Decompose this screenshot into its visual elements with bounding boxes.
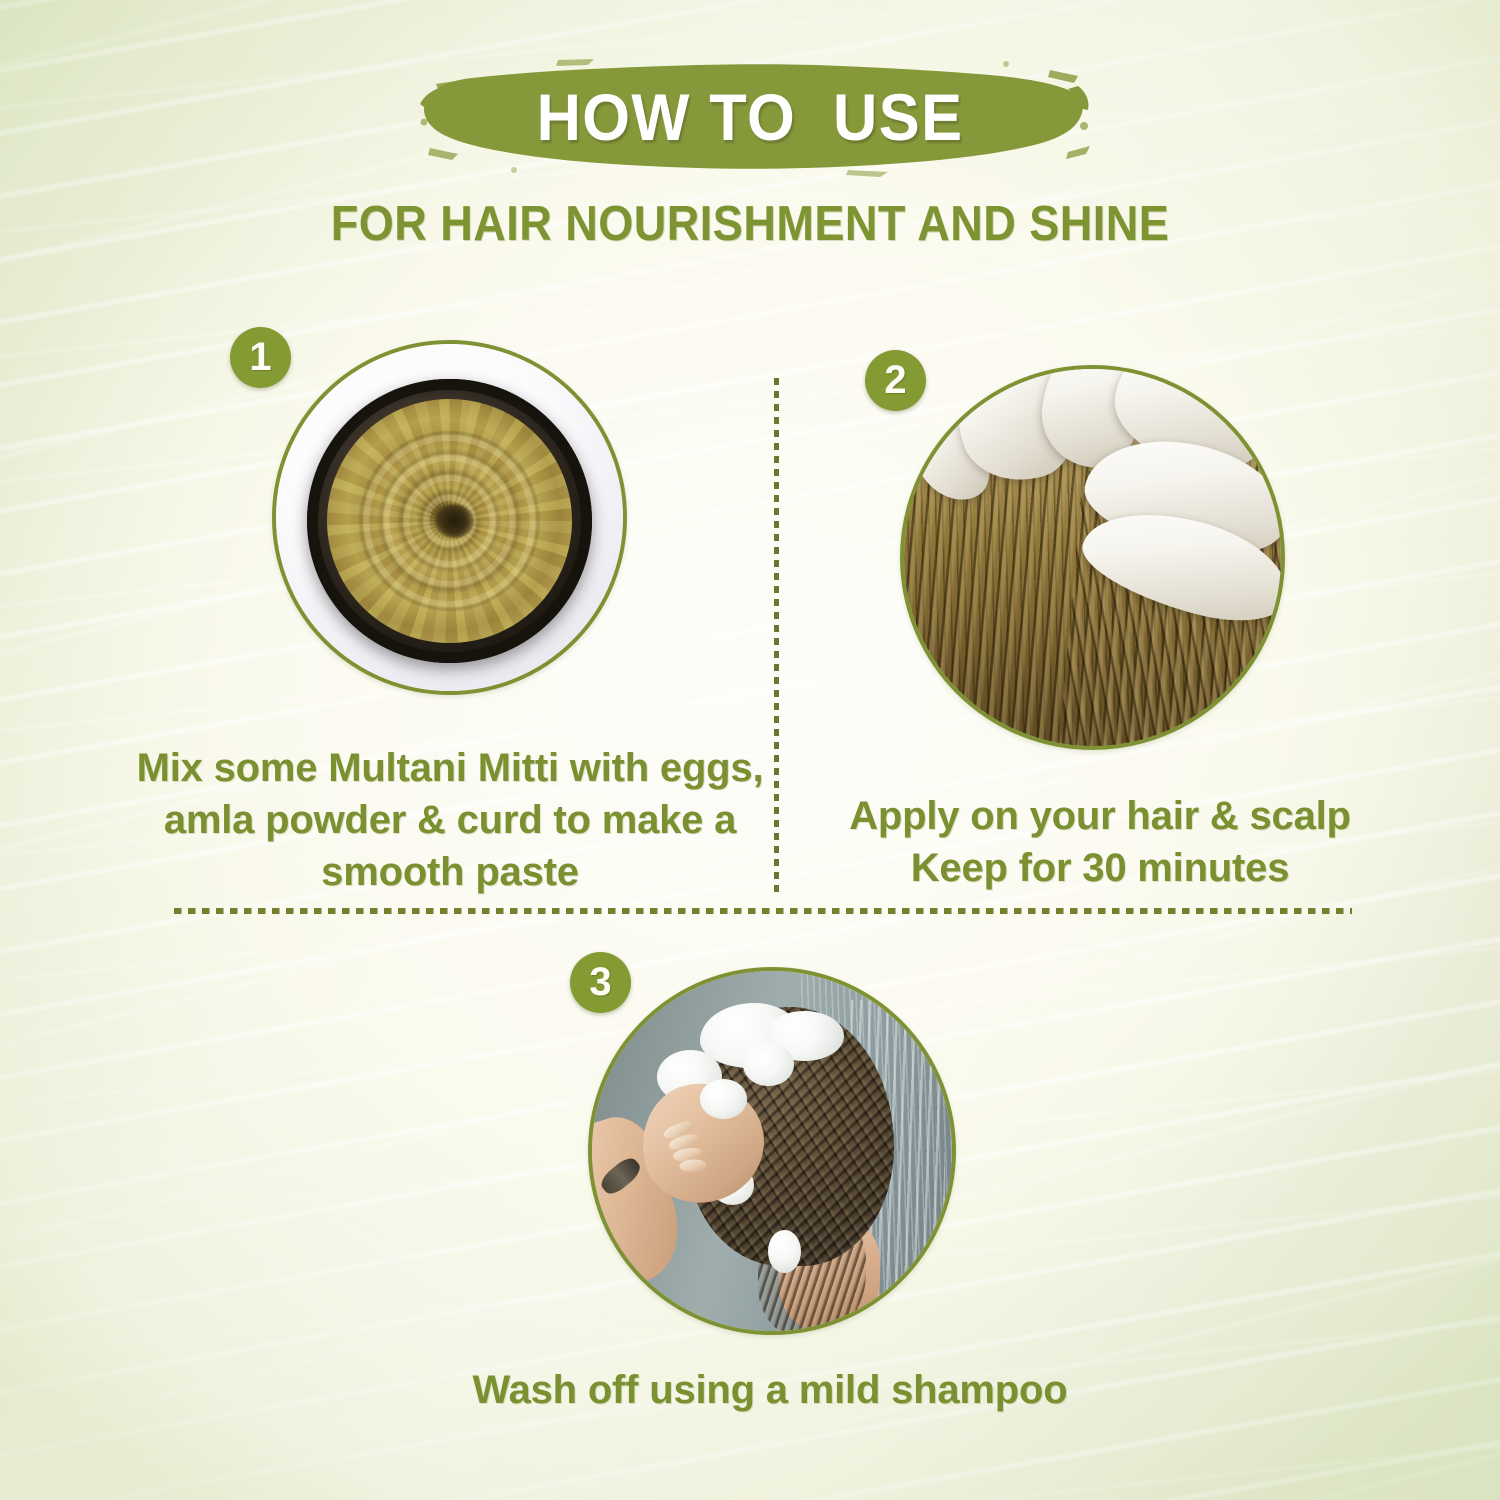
foam-blob-4 — [743, 1043, 793, 1086]
gloved-hands-applying-paste-to-hair-image — [904, 369, 1281, 746]
step-1-number-badge: 1 — [230, 327, 291, 388]
step-1-photo — [272, 340, 627, 695]
step-1-caption: Mix some Multani Mitti with eggs, amla p… — [120, 742, 780, 898]
finger-4 — [680, 1158, 708, 1171]
step-3-photo — [588, 967, 956, 1335]
foam-blob-6 — [768, 1230, 800, 1273]
step-2-number-badge: 2 — [865, 350, 926, 411]
foam-blob-on-hand — [700, 1079, 747, 1119]
header: HOW TO USE — [0, 52, 1500, 182]
washing-hair-with-shampoo-in-shower-image — [592, 971, 952, 1331]
step-2-caption: Apply on your hair & scalp Keep for 30 m… — [800, 790, 1400, 894]
step-3-caption: Wash off using a mild shampoo — [470, 1364, 1070, 1416]
bowl-of-multani-mitti-paste-image — [276, 344, 623, 691]
dark-bowl — [307, 379, 592, 664]
page-subtitle: FOR HAIR NOURISHMENT AND SHINE — [60, 196, 1440, 252]
how-to-use-infographic: HOW TO USE FOR HAIR NOURISHMENT AND SHIN… — [0, 0, 1500, 1500]
paste-swirl-center — [435, 504, 474, 538]
step-3-number-badge: 3 — [570, 952, 631, 1013]
page-title: HOW TO USE — [53, 52, 1448, 182]
horizontal-dashed-divider — [174, 908, 1352, 914]
step-2-photo — [900, 365, 1285, 750]
